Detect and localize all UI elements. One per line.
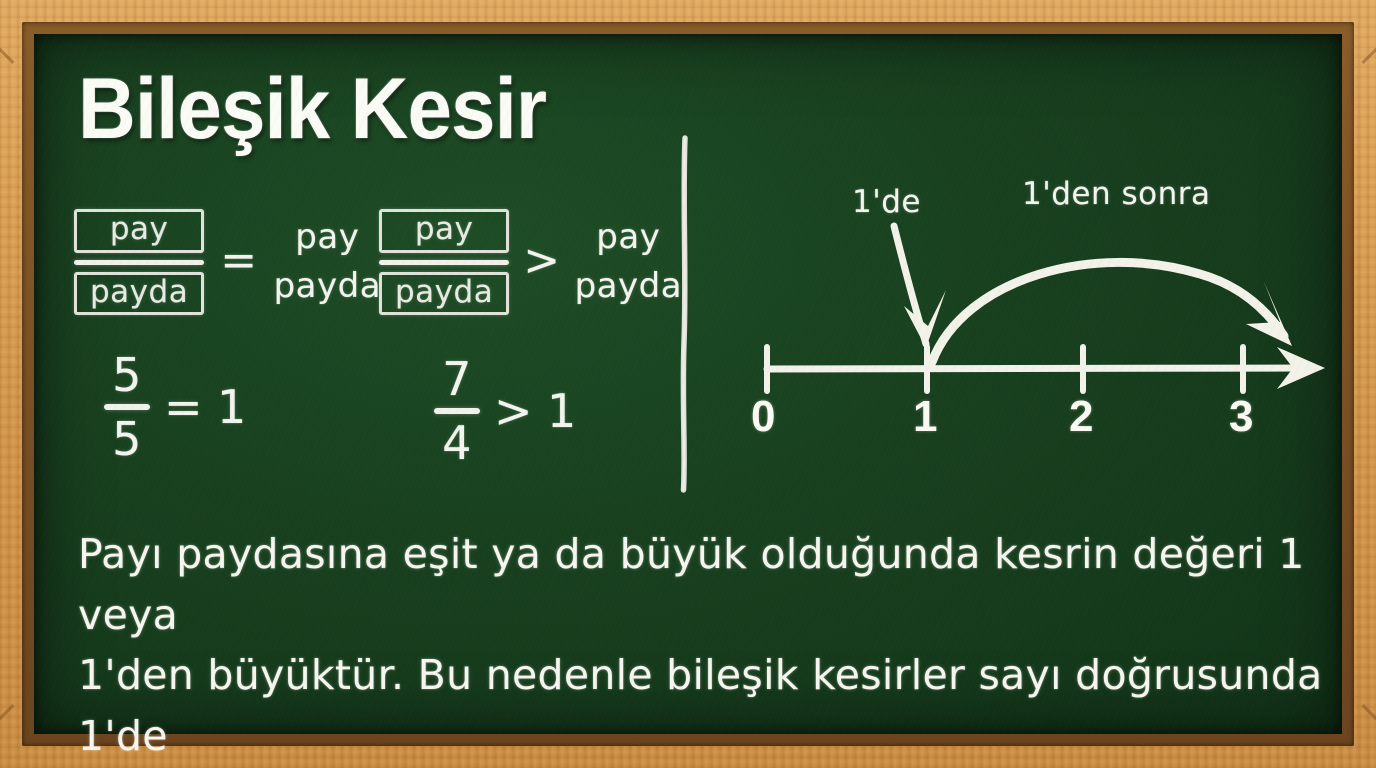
greater-relation-symbol: > xyxy=(523,235,560,290)
greater-numeric-example: 7 4 > 1 xyxy=(434,356,577,466)
equal-example-fraction: 5 5 xyxy=(104,352,150,462)
equal-plain-denominator: payda xyxy=(274,262,381,311)
number-line-axis xyxy=(749,339,1339,399)
frame-miter-bottom-right xyxy=(1362,704,1376,750)
greater-example-bar xyxy=(434,408,480,414)
equal-case-group: pay payda = pay payda xyxy=(74,209,381,315)
greater-plain-fraction: pay payda xyxy=(575,213,682,312)
greater-example-numerator: 7 xyxy=(434,356,480,402)
greater-example-result: 1 xyxy=(547,384,577,438)
axis-tick-3: 3 xyxy=(1229,392,1253,442)
chalkboard-poster: Bileşik Kesir pay payda = pay payda 5 xyxy=(0,0,1376,768)
greater-example-relation: > xyxy=(494,384,533,438)
frame-miter-bottom-left xyxy=(0,704,14,750)
greater-example-denominator: 4 xyxy=(434,420,480,466)
frame-miter-top-left xyxy=(0,18,14,64)
equal-denominator-box: payda xyxy=(74,272,204,316)
equal-plain-fraction: pay payda xyxy=(274,213,381,312)
equal-example-result: 1 xyxy=(217,380,247,434)
greater-numerator-box: pay xyxy=(379,209,509,253)
equal-example-numerator: 5 xyxy=(104,352,150,398)
equal-example-bar xyxy=(104,404,150,410)
axis-tick-2: 2 xyxy=(1069,392,1093,442)
page-title: Bileşik Kesir xyxy=(78,60,546,159)
equal-plain-numerator: pay xyxy=(274,213,381,262)
label-after-one: 1'den sonra xyxy=(1022,176,1211,212)
greater-denominator-box: payda xyxy=(379,272,509,316)
frame-miter-top-right xyxy=(1362,18,1376,64)
equal-numerator-box: pay xyxy=(74,209,204,253)
paragraph-line-1: Payı paydasına eşit ya da büyük olduğund… xyxy=(78,524,1326,645)
axis-tick-1: 1 xyxy=(913,392,937,442)
equal-numeric-example: 5 5 = 1 xyxy=(104,352,247,462)
greater-case-group: pay payda > pay payda xyxy=(379,209,682,315)
equal-fraction-bar xyxy=(74,260,204,265)
greater-example-fraction: 7 4 xyxy=(434,356,480,466)
number-line-diagram: 1'de 1'den sonra xyxy=(694,154,1314,484)
chalkboard-surface: Bileşik Kesir pay payda = pay payda 5 xyxy=(34,34,1342,734)
paragraph-line-2: 1'den büyüktür. Bu nedenle bileşik kesir… xyxy=(78,645,1326,766)
equal-example-denominator: 5 xyxy=(104,416,150,462)
boxed-fraction-equal: pay payda xyxy=(74,209,204,315)
boxed-fraction-greater: pay payda xyxy=(379,209,509,315)
equal-example-relation: = xyxy=(164,380,203,434)
greater-fraction-bar xyxy=(379,260,509,265)
equal-relation-symbol: = xyxy=(220,235,257,290)
explanation-paragraph: Payı paydasına eşit ya da büyük olduğund… xyxy=(78,524,1326,768)
axis-tick-0: 0 xyxy=(751,392,775,442)
greater-plain-numerator: pay xyxy=(575,213,682,262)
greater-plain-denominator: payda xyxy=(575,262,682,311)
label-at-one: 1'de xyxy=(852,184,921,220)
